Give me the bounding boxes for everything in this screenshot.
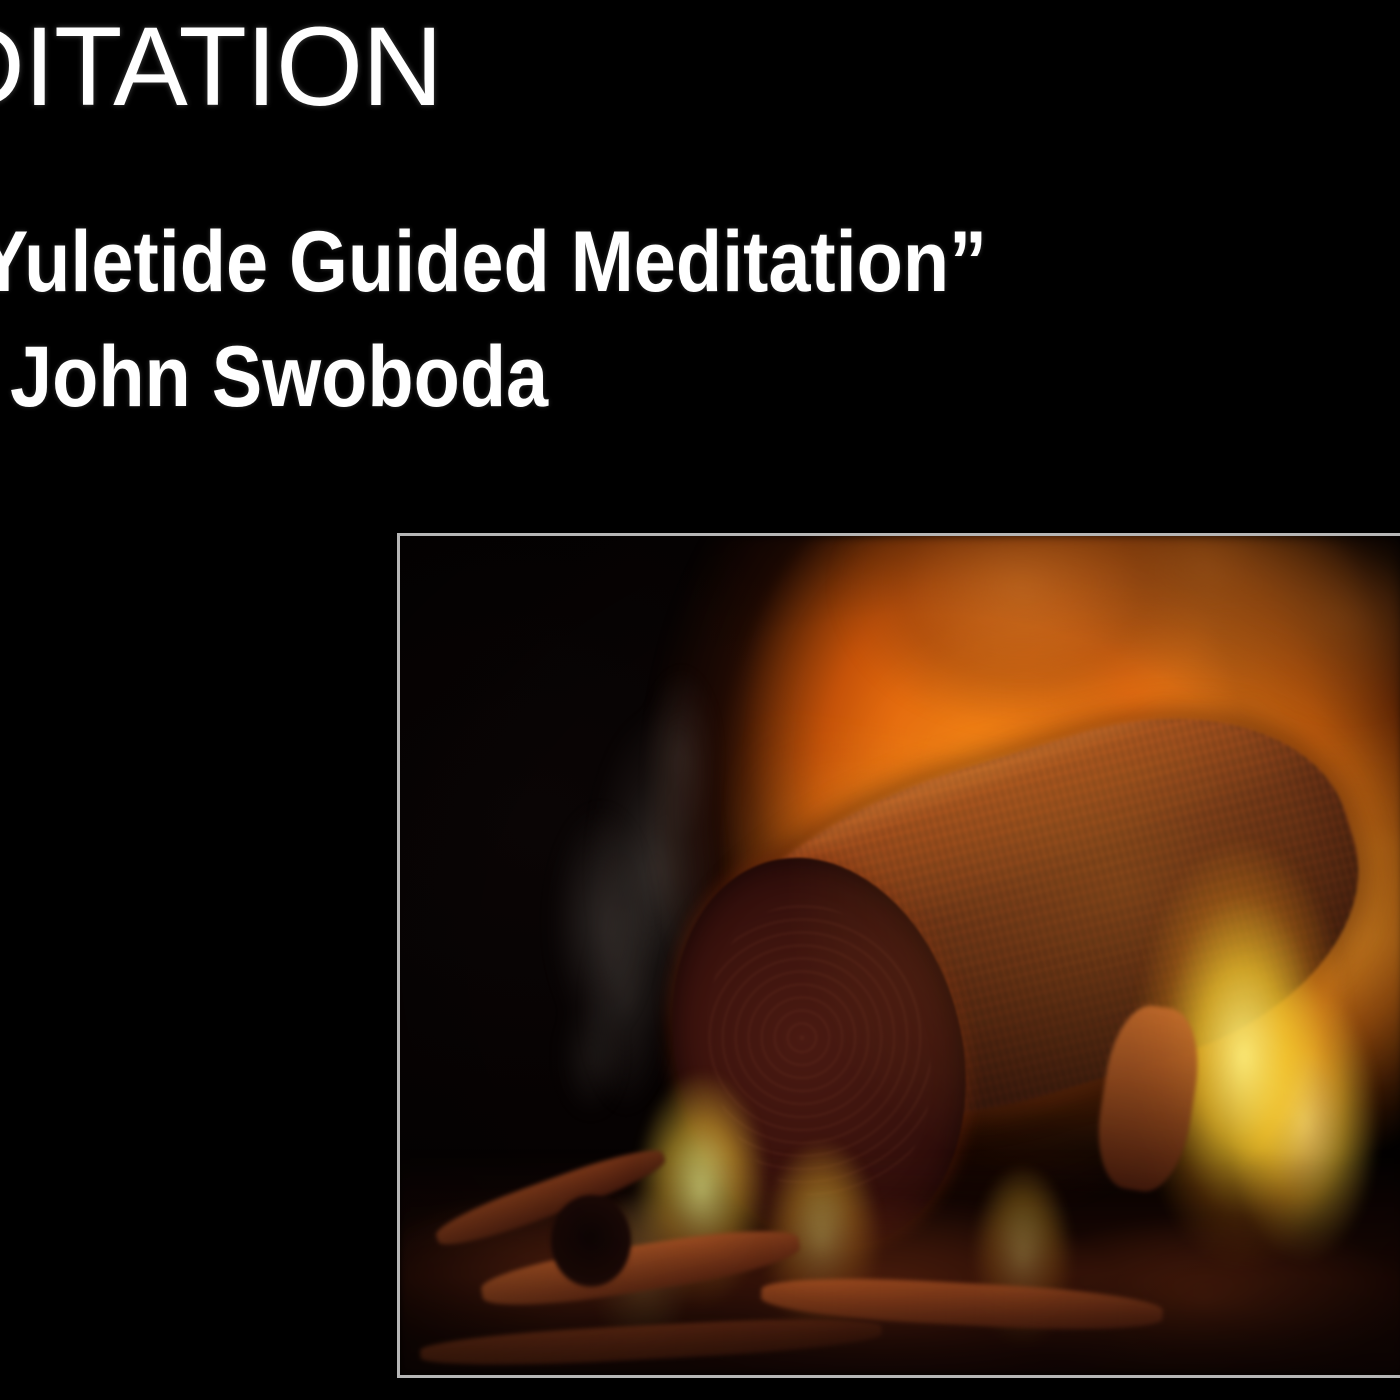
author-name: John Swoboda: [10, 320, 995, 435]
page-title: MEDITATION: [0, 8, 442, 126]
slide-canvas: MEDITATION “Yuletide Guided Meditation” …: [0, 0, 1400, 1400]
subtitle-block: “Yuletide Guided Meditation” John Swobod…: [0, 205, 1130, 435]
subtitle-quote: “Yuletide Guided Meditation”: [0, 205, 987, 320]
photo-frame: [397, 533, 1400, 1378]
photo-vignette: [400, 536, 1400, 1375]
fireplace-photo: [400, 536, 1400, 1375]
